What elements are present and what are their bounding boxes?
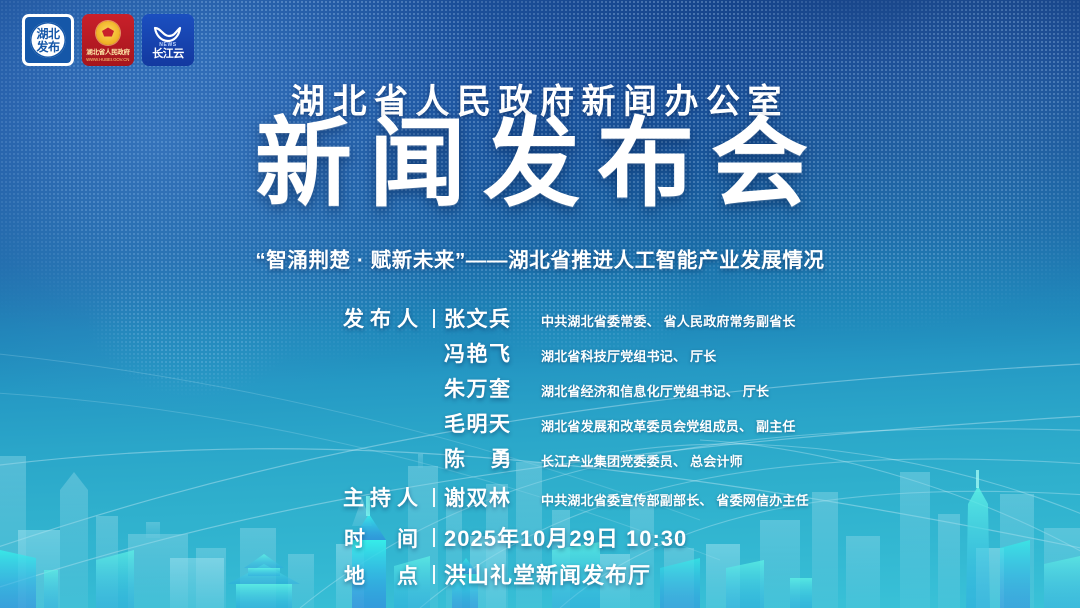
host-label: 主持人 [0,482,424,512]
time-label-char2: 间 [397,528,424,551]
hubei-release-logo-line1: 湖北 [36,28,59,40]
changjiang-cloud-logo-cn: 长江云 [152,49,184,60]
speaker-title: 湖北省科技厅党组书记、 厅长 [541,346,716,365]
time-label: 时间 [0,523,424,553]
speaker-title: 中共湖北省委常委、 省人民政府常务副省长 [541,311,796,330]
host-row: 主持人 谢双林 中共湖北省委宣传部副部长、 省委网信办主任 [0,482,1080,512]
changjiang-cloud-logo[interactable]: NEWS 长江云 [142,14,194,66]
time-value: 2025年10月29日 10:30 [444,521,687,553]
speaker-name: 朱万奎 [444,373,530,403]
speaker-row: 发布人 冯艳飞 湖北省科技厅党组书记、 厅长 [0,338,1080,368]
national-emblem-icon [96,21,120,45]
cloud-swoosh-icon [153,25,183,43]
place-label-char2: 点 [397,565,424,588]
hubei-release-logo-line2: 发布 [36,41,59,53]
speaker-title: 湖北省经济和信息化厅党组书记、 厅长 [541,381,769,400]
speaker-name: 张文兵 [444,303,530,333]
divider-bar [433,309,435,328]
speaker-name: 陈勇 [444,443,530,473]
host-name: 谢双林 [444,482,530,512]
speaker-title: 湖北省发展和改革委员会党组成员、 副主任 [541,416,796,435]
logo-bar: 湖北 发布 湖北省人民政府 WWW.HUBEI.GOV.CN NEWS 长江云 [22,14,194,66]
news-conference-poster: 湖北 发布 湖北省人民政府 WWW.HUBEI.GOV.CN NEWS 长江云 … [0,0,1080,608]
place-value: 洪山礼堂新闻发布厅 [444,558,651,590]
hubei-release-logo[interactable]: 湖北 发布 [22,14,74,66]
divider-bar [433,528,435,547]
speakers-label: 发布人 [0,303,424,333]
speaker-name: 毛明天 [444,408,530,438]
subtitle: “智涌荆楚 · 赋新未来”——湖北省推进人工智能产业发展情况 [190,243,890,273]
hubei-government-logo-line1: 湖北省人民政府 [86,46,129,56]
place-label: 地点 [0,560,424,590]
hubei-government-logo[interactable]: 湖北省人民政府 WWW.HUBEI.GOV.CN [82,14,134,66]
hubei-government-logo-line2: WWW.HUBEI.GOV.CN [86,57,129,62]
host-title: 中共湖北省委宣传部副部长、 省委网信办主任 [541,490,809,509]
speaker-row: 发布人 张文兵 中共湖北省委常委、 省人民政府常务副省长 [0,303,1080,333]
info-block: 发布人 张文兵 中共湖北省委常委、 省人民政府常务副省长 发布人 冯艳飞 湖北省… [0,303,1080,595]
speaker-row: 发布人 陈勇 长江产业集团党委委员、 总会计师 [0,443,1080,473]
main-title: 新闻发布会 [190,112,890,217]
divider-bar [433,565,435,584]
time-label-char1: 时 [344,528,371,551]
divider-bar [433,488,435,507]
speaker-row: 发布人 朱万奎 湖北省经济和信息化厅党组书记、 厅长 [0,373,1080,403]
speaker-name: 冯艳飞 [444,338,530,368]
time-row: 时间 2025年10月29日 10:30 [0,521,1080,553]
speaker-row: 发布人 毛明天 湖北省发展和改革委员会党组成员、 副主任 [0,408,1080,438]
speaker-name-surname: 陈勇 [444,448,513,471]
speaker-title: 长江产业集团党委委员、 总会计师 [541,451,743,470]
place-row: 地点 洪山礼堂新闻发布厅 [0,558,1080,590]
place-label-char1: 地 [344,565,371,588]
